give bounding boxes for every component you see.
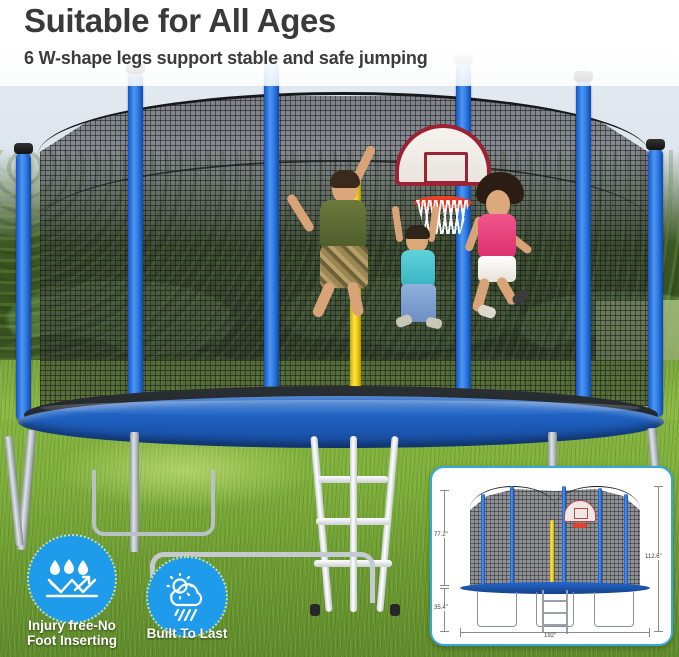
person-boy-turquoise-shirt xyxy=(386,206,458,334)
enclosure-pole-front-right xyxy=(648,148,663,418)
boy-green-hair xyxy=(330,170,360,188)
enclosure-pole-front-left xyxy=(16,152,31,422)
w-leg-2-u-bracket xyxy=(92,470,215,536)
dim-line-enclosure-height xyxy=(444,490,445,586)
boy-turq-shirt xyxy=(401,250,435,288)
badge-label-line1: Injury free-No xyxy=(12,618,132,633)
boy-turq-left-shoe xyxy=(395,314,413,329)
dimension-diagram-inset: 77.2" 35.4" 112.6" 192" xyxy=(430,466,673,646)
ladder-foot-left xyxy=(310,604,320,616)
header-banner: Suitable for All Ages 6 W-shape legs sup… xyxy=(0,0,679,86)
diagram-pole-3 xyxy=(562,486,566,590)
water-repellent-droplets-icon xyxy=(45,556,99,602)
diagram-pole-4 xyxy=(598,488,602,590)
dim-tick-diameter-right xyxy=(649,628,650,637)
badge-label-line2: Foot Inserting xyxy=(12,633,132,648)
dim-tick-enclosure-top xyxy=(440,490,449,491)
sun-cloud-rain-icon xyxy=(161,573,213,621)
dim-label-frame-height: 35.4" xyxy=(433,605,449,611)
diagram-pole-5 xyxy=(624,494,628,590)
page-title: Suitable for All Ages xyxy=(24,2,336,40)
dim-label-enclosure-height: 77.2" xyxy=(433,532,449,538)
diagram-pole-1 xyxy=(481,494,485,590)
product-marketing-image: Suitable for All Ages 6 W-shape legs sup… xyxy=(0,0,679,657)
dim-tick-frame-bottom xyxy=(440,631,449,632)
diagram-ladder-step-3 xyxy=(542,624,567,626)
dim-tick-total-bottom xyxy=(654,631,663,632)
diagram-center-pole xyxy=(550,520,554,586)
page-subtitle: 6 W-shape legs support stable and safe j… xyxy=(24,48,428,69)
person-girl-pink-top xyxy=(462,172,554,320)
pad-highlight xyxy=(40,400,640,416)
dim-tick-diameter-left xyxy=(460,628,461,637)
enclosure-pole-rear-2 xyxy=(264,60,279,410)
diagram-pole-2 xyxy=(510,486,514,590)
dim-tick-enclosure-bottom xyxy=(440,585,449,586)
feature-badge-injury-free[interactable] xyxy=(27,534,117,624)
boy-turq-left-arm xyxy=(392,206,404,243)
dim-tick-total-top xyxy=(654,486,663,487)
dim-tick-frame-top xyxy=(440,588,449,589)
person-boy-green-shirt xyxy=(292,140,397,315)
girl-pink-top xyxy=(478,214,516,260)
dim-label-total-height: 112.6" xyxy=(644,554,663,560)
boy-turq-hair xyxy=(405,225,430,239)
diagram-rim xyxy=(572,523,588,528)
diagram-ladder-step-2 xyxy=(542,612,567,614)
diagram-leg-left xyxy=(477,592,517,627)
boy-green-shirt xyxy=(320,200,366,252)
feature-badge-injury-free-label: Injury free-No Foot Inserting xyxy=(12,618,132,648)
boy-green-left-leg xyxy=(311,281,336,318)
boy-turq-right-shoe xyxy=(425,316,443,329)
dim-label-diameter: 192" xyxy=(542,633,558,639)
diagram-leg-right xyxy=(594,592,634,627)
diagram-ladder-step-1 xyxy=(542,600,567,602)
badge2-label-line1: Built To Last xyxy=(135,626,239,641)
ladder-foot-right xyxy=(390,604,400,616)
girl-left-shoe xyxy=(477,303,498,319)
enclosure-pole-rear-1 xyxy=(128,72,143,417)
feature-badge-built-to-last-label: Built To Last xyxy=(135,626,239,641)
diagram-backboard-square xyxy=(574,508,588,519)
enclosure-pole-front-center xyxy=(576,80,591,420)
